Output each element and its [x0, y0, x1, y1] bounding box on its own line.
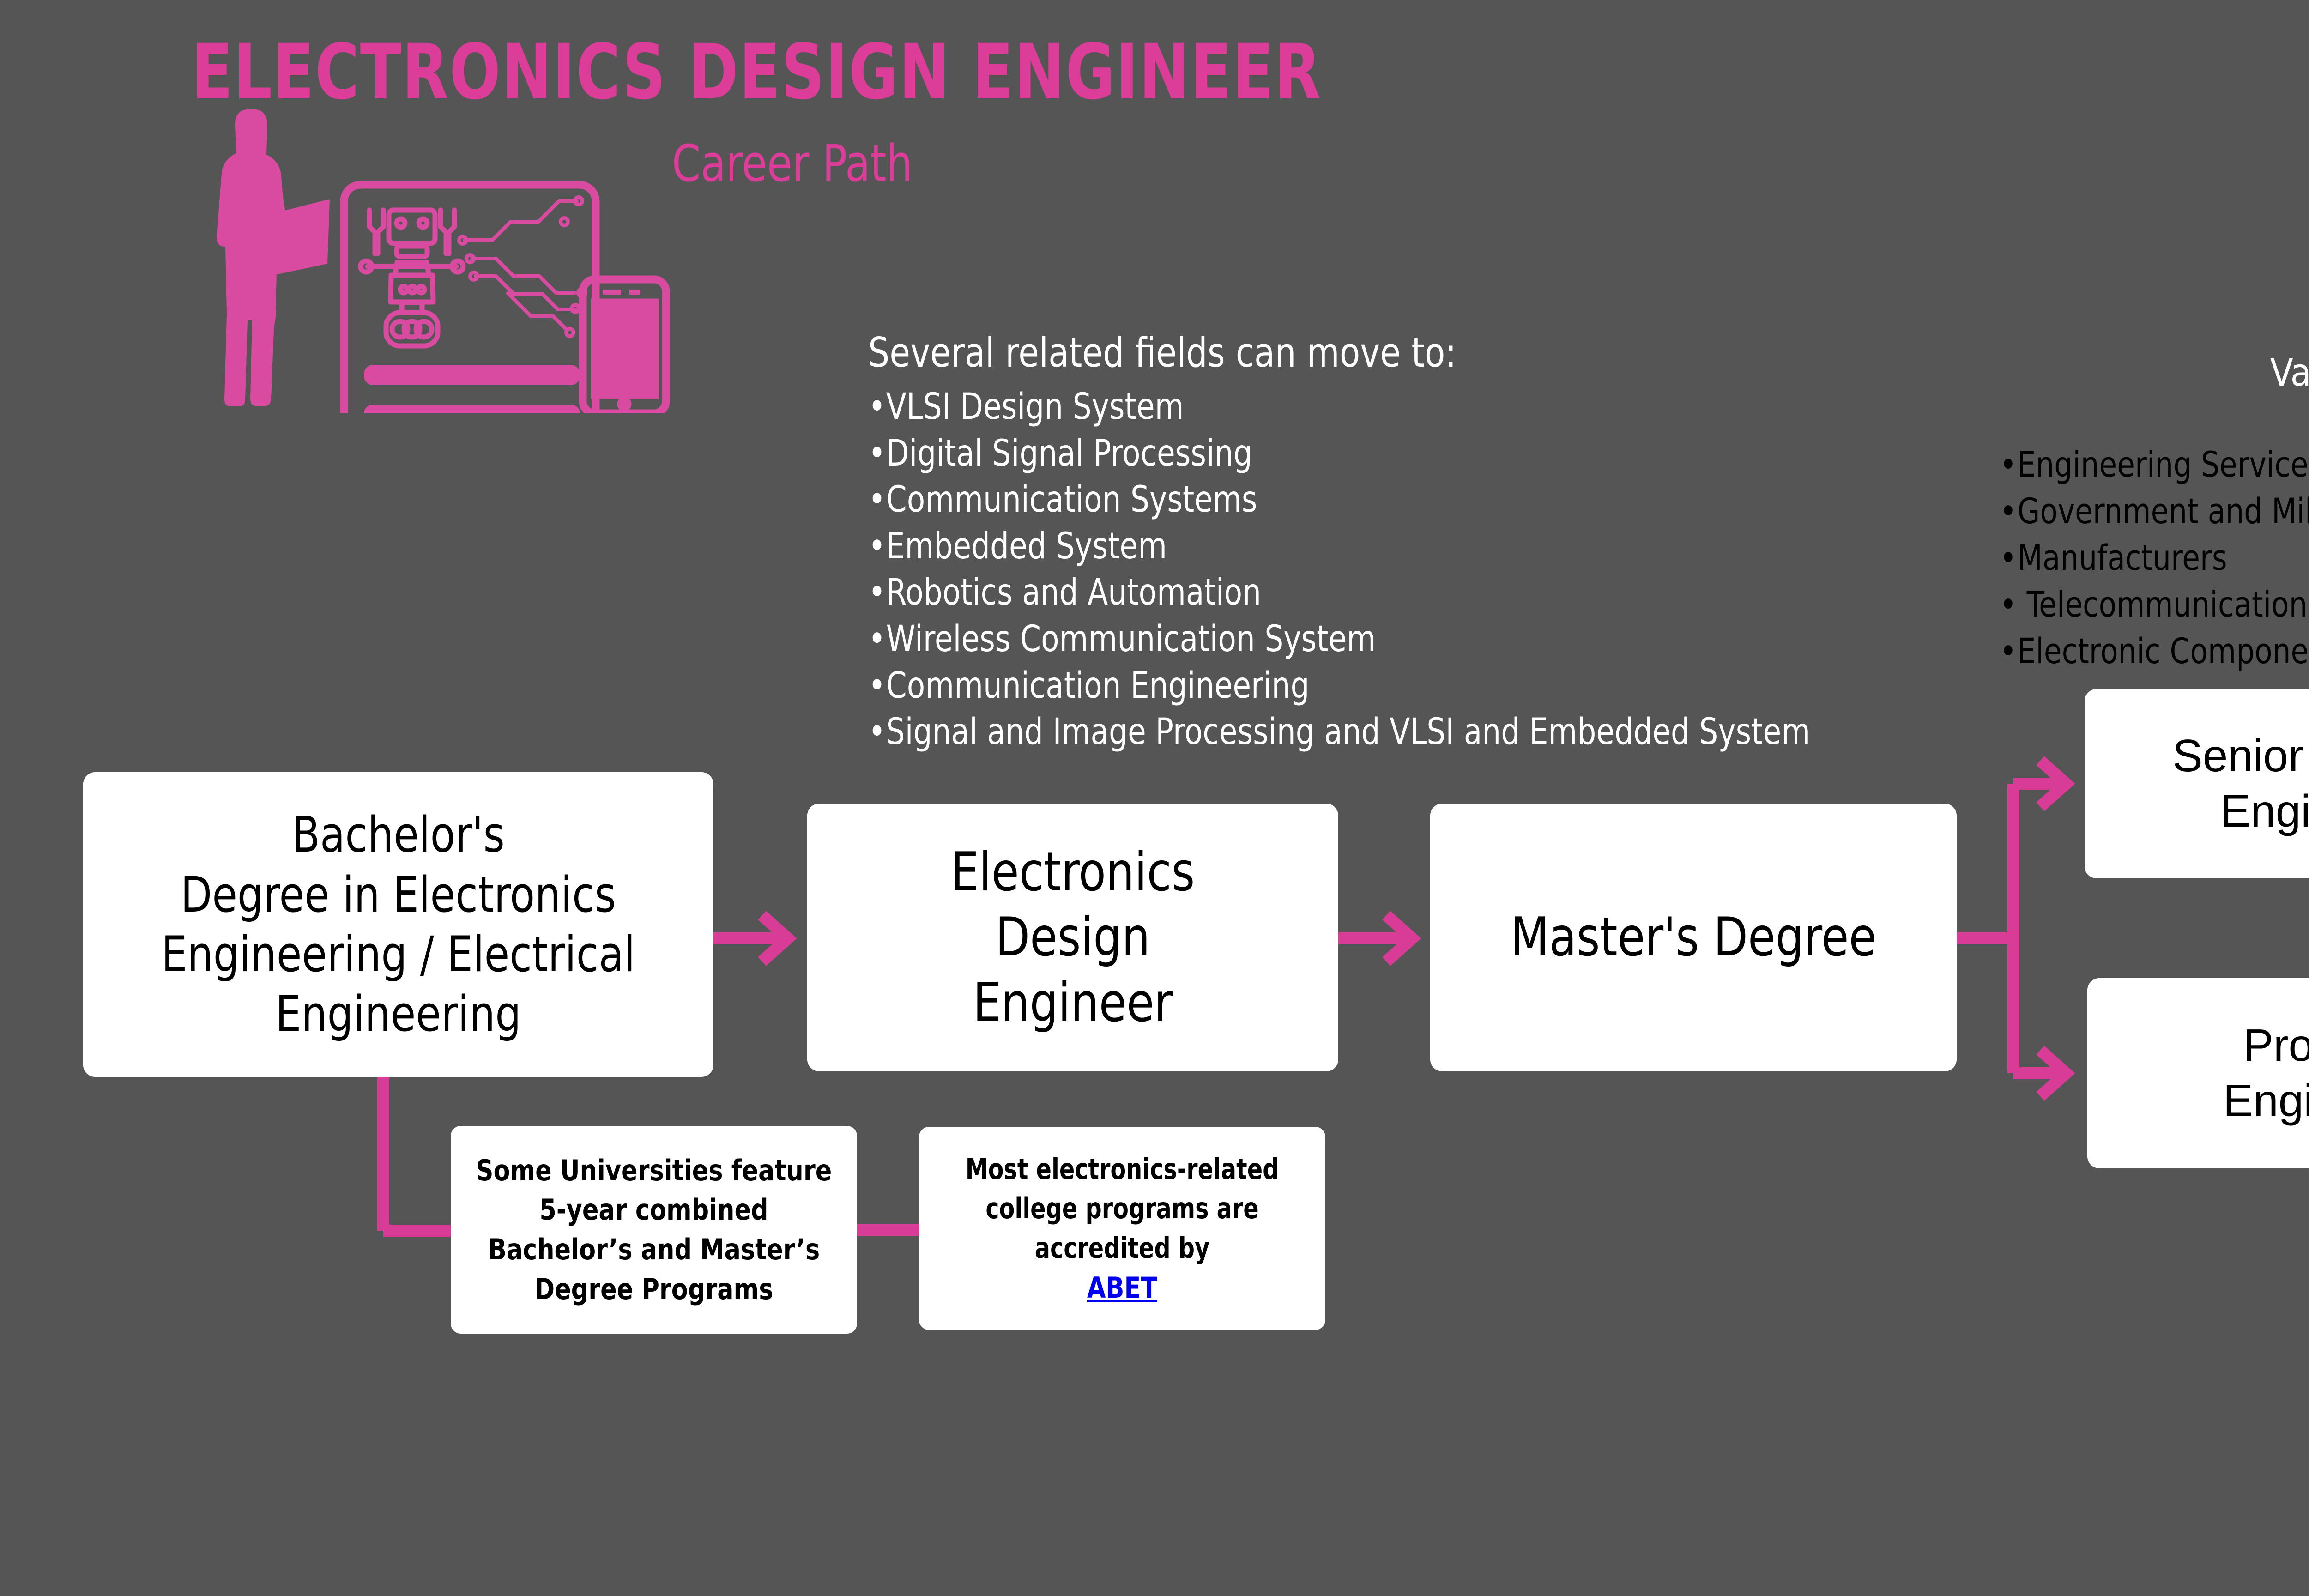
list-item: •Digital Signal Processing	[868, 430, 1810, 477]
abet-link[interactable]: ABET	[1087, 1271, 1157, 1305]
bullet-icon: •	[2000, 534, 2018, 581]
list-item-label: Engineering Service Providers	[2018, 444, 2309, 485]
flow-node-bachelor-label: Bachelor'sDegree in ElectronicsEngineeri…	[105, 805, 691, 1044]
list-item: •Manufacturers	[2000, 534, 2309, 581]
flow-node-electronics-design-engineer[interactable]: ElectronicsDesignEngineer	[807, 804, 1338, 1071]
list-item: •Signal and Image Processing and VLSI an…	[868, 709, 1810, 756]
note1-text: Some Universities feature 5-year combine…	[472, 1151, 835, 1309]
list-item: •Wireless Communication System	[868, 616, 1810, 663]
list-item-label: Government and Military Agencies	[2018, 490, 2309, 532]
list-item: •Government and Military Agencies	[2000, 488, 2309, 534]
note2-text: Most electronics-related college program…	[941, 1149, 1304, 1307]
flow-node-senior-design-engineer[interactable]: Senior designEngineer	[2085, 689, 2309, 878]
related-fields-block: Several related fields can move to: •VLS…	[868, 329, 1892, 756]
list-item-label: Wireless Communication System	[886, 618, 1376, 660]
bullet-icon: •	[2000, 441, 2018, 488]
bullet-icon: •	[868, 709, 886, 756]
page-subtitle: Career Path	[672, 134, 913, 193]
list-item-label: Manufacturers	[2018, 537, 2227, 578]
bullet-icon: •	[868, 523, 886, 570]
work-areas-heading: Variety of areas can work at:	[1953, 351, 2309, 395]
bullet-icon: •	[2000, 488, 2018, 534]
bullet-icon: •	[868, 616, 886, 663]
list-item-label: Robotics and Automation	[886, 572, 1261, 613]
flow-node-master-label: Master's Degree	[1449, 905, 1938, 970]
note2-prefix: Most electronics-related college program…	[952, 1149, 1293, 1268]
bullet-icon: •	[868, 384, 886, 430]
flow-node-masters-degree[interactable]: Master's Degree	[1430, 804, 1957, 1071]
list-item: •VLSI Design System	[868, 384, 1810, 430]
flow-node-bachelor-degree[interactable]: Bachelor'sDegree in ElectronicsEngineeri…	[83, 772, 713, 1077]
bullet-icon: •	[868, 663, 886, 709]
list-item: •Embedded System	[868, 523, 1810, 570]
note-abet-accreditation: Most electronics-related college program…	[919, 1127, 1325, 1330]
list-item: •Communication Systems	[868, 477, 1810, 523]
list-item: •Electronic Component Manufacturing	[2000, 628, 2309, 674]
electronics-engineer-illustration	[185, 99, 674, 413]
list-item-label: Communication Engineering	[886, 665, 1310, 707]
related-fields-list: •VLSI Design System•Digital Signal Proce…	[868, 384, 1892, 756]
list-item-label: VLSI Design System	[886, 386, 1184, 428]
bullet-icon: •	[2000, 581, 2018, 628]
bullet-icon: •	[868, 569, 886, 616]
list-item-label: Communication Systems	[886, 479, 1257, 520]
related-fields-heading: Several related fields can move to:	[868, 329, 1810, 376]
bullet-icon: •	[2000, 628, 2018, 674]
bullet-icon: •	[868, 430, 886, 477]
flow-node-senior-label: Senior designEngineer	[2085, 728, 2309, 839]
list-item-label: Digital Signal Processing	[886, 433, 1252, 474]
list-item: • Telecommunications Companies	[2000, 581, 2309, 628]
bullet-icon: •	[868, 477, 886, 523]
list-item-label: Signal and Image Processing and VLSI and…	[886, 711, 1810, 753]
list-item-label: Telecommunications Companies	[2018, 584, 2309, 625]
flow-node-project-label: ProjectEngineer	[2087, 1018, 2309, 1128]
work-areas-list-left: •Engineering Service Providers•Governmen…	[2000, 441, 2309, 674]
list-item: •Communication Engineering	[868, 663, 1810, 709]
flow-node-ede-label: ElectronicsDesignEngineer	[826, 840, 1320, 1036]
work-areas-block: Variety of areas can work at: •Engineeri…	[1953, 351, 2309, 441]
note-combined-degree-programs: Some Universities feature 5-year combine…	[451, 1126, 857, 1334]
list-item-label: Embedded System	[886, 526, 1167, 567]
list-item: •Robotics and Automation	[868, 569, 1810, 616]
flow-node-project-engineer[interactable]: ProjectEngineer	[2087, 978, 2309, 1168]
list-item: •Engineering Service Providers	[2000, 441, 2309, 488]
list-item-label: Electronic Component Manufacturing	[2018, 630, 2309, 671]
